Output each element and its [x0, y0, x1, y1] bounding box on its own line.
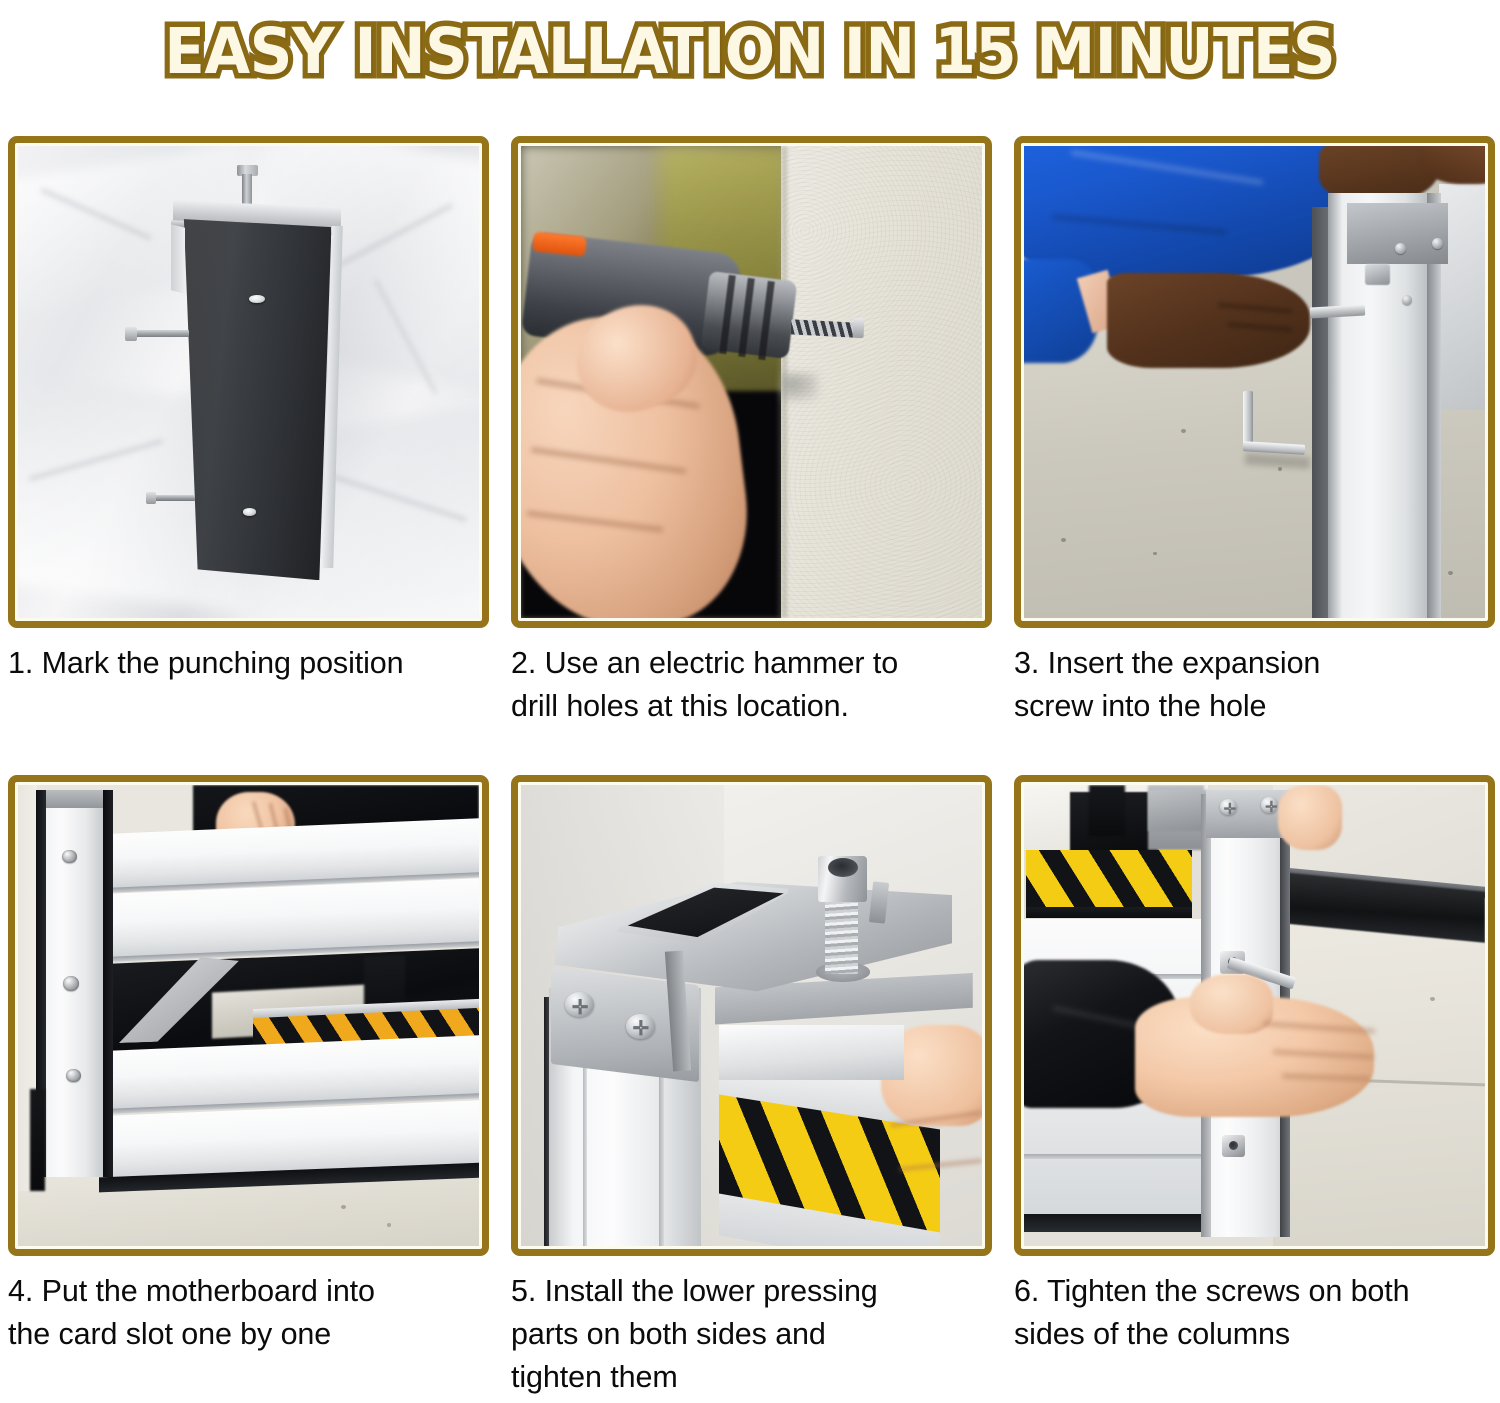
photo-frame-2 — [511, 136, 992, 628]
step-6-caption-cell: 6. Tighten the screws on both sides of t… — [1014, 1256, 1495, 1400]
step-4-caption-line-1: 4. Put the motherboard into — [8, 1270, 489, 1313]
step-6-photo-cell: ✛ ✛ — [1014, 775, 1495, 1256]
step-2-photo-cell — [511, 136, 992, 628]
column-screw — [66, 1069, 81, 1083]
step-3-photo-cell — [1014, 136, 1495, 628]
page-title: EASY INSTALLATION IN 15 MINUTES — [165, 18, 1336, 86]
step-6-caption-line-1: 6. Tighten the screws on both — [1014, 1270, 1495, 1313]
step-5-photo-cell: ✛ ✛ — [511, 775, 992, 1256]
photo-frame-3 — [1014, 136, 1495, 628]
background-dark — [1089, 785, 1126, 836]
marked-hole-position — [249, 295, 265, 303]
step-4-caption-cell: 4. Put the motherboard into the card slo… — [8, 1256, 489, 1400]
photo-frame-4 — [8, 775, 489, 1256]
base-seal — [1024, 1214, 1208, 1232]
steps-grid: 1. Mark the punching position 2. Use an … — [8, 136, 1492, 1400]
phillips-screw-cross-icon: ✛ — [1224, 802, 1237, 817]
alignment-rod-cap — [125, 327, 137, 341]
drill-bit — [791, 319, 856, 337]
column-screw-lower-recess — [1229, 1141, 1238, 1150]
floor-speck — [1181, 429, 1186, 433]
step-5-caption-line-2: parts on both sides and — [511, 1313, 992, 1356]
step-3-caption-line-2: screw into the hole — [1014, 685, 1495, 728]
floor-speck — [1430, 997, 1435, 1001]
photo-drill-holes — [521, 146, 982, 618]
card-slot — [103, 790, 113, 1177]
step-4-caption-line-2: the card slot one by one — [8, 1313, 489, 1356]
column-screw — [63, 976, 79, 991]
photo-insert-expansion-screw — [1024, 146, 1485, 618]
worker-arm — [1107, 273, 1310, 367]
photo-lower-pressing-parts: ✛ ✛ — [521, 785, 982, 1246]
step-1-photo-cell — [8, 136, 489, 628]
marked-hole-position — [243, 508, 256, 515]
expansion-screw — [1365, 264, 1390, 285]
column-lip — [171, 224, 185, 294]
phillips-screw-cross-icon: ✛ — [1265, 800, 1278, 815]
top-bolt-shaft — [242, 174, 252, 204]
step-5-caption-line-3: tighten them — [511, 1356, 992, 1399]
step-2-caption-line-1: 2. Use an electric hammer to — [511, 642, 992, 685]
mounting-post-shading — [179, 219, 331, 580]
alignment-rod — [129, 330, 189, 337]
drill-bit-tip — [852, 318, 864, 338]
photo-frame-5: ✛ ✛ — [511, 775, 992, 1256]
floor-speck — [387, 1223, 391, 1227]
photo-frame-6: ✛ ✛ — [1014, 775, 1495, 1256]
step-4-photo-cell — [8, 775, 489, 1256]
bolt-thread — [825, 896, 858, 974]
step-6-caption-line-2: sides of the columns — [1014, 1313, 1495, 1356]
alignment-rod-cap — [146, 492, 156, 503]
drill-dust — [781, 373, 818, 401]
photo-mark-punching-position — [18, 146, 479, 618]
photo-tighten-column-screws: ✛ ✛ — [1024, 785, 1485, 1246]
step-1-caption-cell: 1. Mark the punching position — [8, 628, 489, 775]
step-3-caption-line-1: 3. Insert the expansion — [1014, 642, 1495, 685]
hand-upper — [1278, 785, 1343, 850]
phillips-screw-cross-icon: ✛ — [572, 998, 589, 1018]
barrier-board-top — [719, 1025, 903, 1080]
installation-infographic: EASY INSTALLATION IN 15 MINUTES — [0, 0, 1500, 1403]
background-metal — [1148, 790, 1208, 831]
step-2-caption-cell: 2. Use an electric hammer to drill holes… — [511, 628, 992, 775]
column-top-plate — [46, 790, 104, 808]
step-5-caption-line-1: 5. Install the lower pressing — [511, 1270, 992, 1313]
floor-speck — [1448, 571, 1453, 575]
step-3-caption-cell: 3. Insert the expansion screw into the h… — [1014, 628, 1495, 775]
floor — [18, 1177, 479, 1246]
baseboard-shadow — [30, 1089, 45, 1190]
hazard-stripes — [1026, 850, 1192, 910]
hazard-strip-edge — [1026, 907, 1192, 918]
barrier-board-groove — [1024, 1154, 1208, 1159]
floor-speck — [1153, 552, 1157, 555]
title-banner: EASY INSTALLATION IN 15 MINUTES — [0, 0, 1500, 104]
column-top-plate — [1347, 203, 1448, 264]
phillips-screw-cross-icon: ✛ — [633, 1019, 650, 1039]
step-5-caption-cell: 5. Install the lower pressing parts on b… — [511, 1256, 992, 1400]
thumb — [1190, 974, 1273, 1034]
photo-frame-1 — [8, 136, 489, 628]
floor-speck — [1061, 538, 1066, 542]
photo-insert-motherboards — [18, 785, 479, 1246]
step-1-caption-line-1: 1. Mark the punching position — [8, 642, 489, 685]
floor-speck — [341, 1205, 346, 1209]
alignment-rod — [149, 495, 195, 501]
step-2-caption-line-2: drill holes at this location. — [511, 685, 992, 728]
